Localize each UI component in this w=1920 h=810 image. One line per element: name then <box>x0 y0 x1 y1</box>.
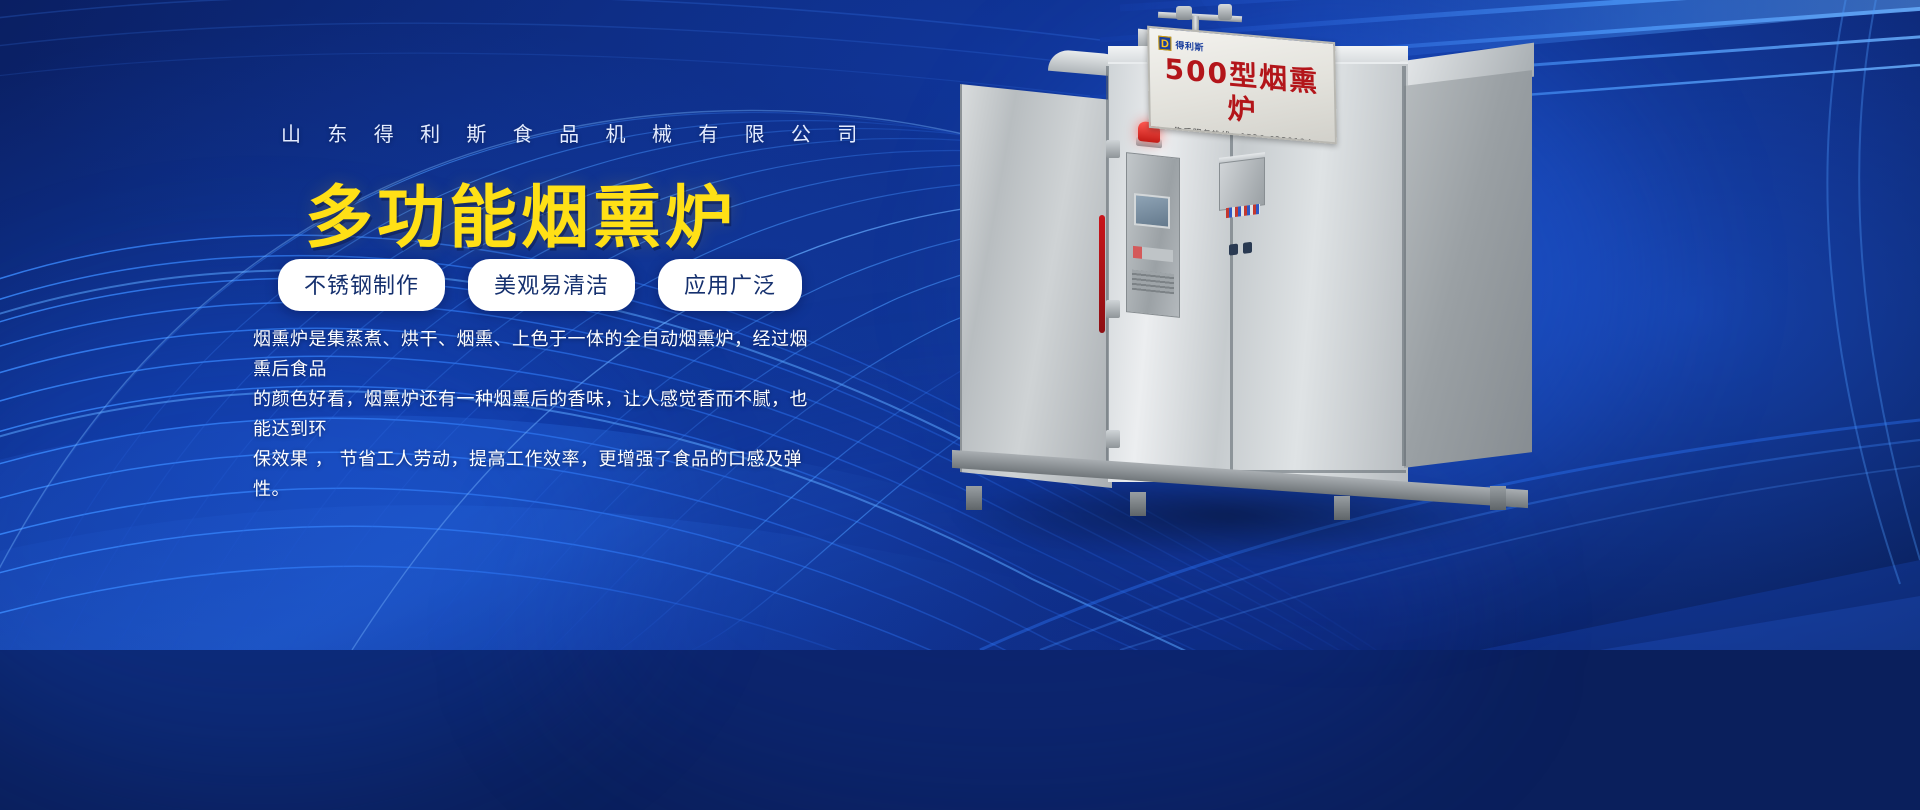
door-seam-left <box>1106 66 1109 478</box>
valve-secondary-icon <box>1218 4 1232 20</box>
logo-d-mark: D <box>1158 36 1171 51</box>
valve-knob-2[interactable] <box>1243 242 1252 254</box>
logo-brand-name: 得利斯 <box>1175 38 1204 54</box>
machine-leg-3 <box>1334 496 1350 520</box>
pill-wide-application[interactable]: 应用广泛 <box>658 259 802 311</box>
door-seam-right <box>1402 66 1406 466</box>
control-vent-grill <box>1132 270 1174 294</box>
promo-banner: 山 东 得 利 斯 食 品 机 械 有 限 公 司 多功能烟熏炉 不锈钢制作 美… <box>0 0 1920 650</box>
cabinet-left-panel <box>960 84 1112 488</box>
valve-knob-1[interactable] <box>1229 243 1238 255</box>
description-line-1: 烟熏炉是集蒸煮、烘干、烟熏、上色于一体的全自动烟熏炉，经过烟熏后食品 <box>253 325 813 385</box>
door-hinge-top <box>1106 140 1120 158</box>
control-display-screen <box>1134 193 1170 229</box>
pill-easy-clean[interactable]: 美观易清洁 <box>468 259 635 311</box>
description-line-3: 保效果 ， 节省工人劳动，提高工作效率，更增强了食品的口感及弹性。 <box>253 445 813 505</box>
door-hinge-bottom <box>1106 430 1120 448</box>
machine-leg-2 <box>1130 492 1146 516</box>
banner-text-block: 山 东 得 利 斯 食 品 机 械 有 限 公 司 多功能烟熏炉 不锈钢制作 美… <box>0 0 880 650</box>
wall-junction-box <box>1219 157 1265 211</box>
product-image-smokehouse-oven: D 得利斯 500型烟熏炉 售后服务热线：0536-6339124 <box>930 0 1630 650</box>
valve-icon <box>1176 6 1192 20</box>
company-name: 山 东 得 利 斯 食 品 机 械 有 限 公 司 <box>281 118 867 147</box>
machine-body: D 得利斯 500型烟熏炉 售后服务热线：0536-6339124 <box>930 0 1630 650</box>
pill-stainless-steel[interactable]: 不锈钢制作 <box>278 259 445 311</box>
feature-pill-group: 不锈钢制作 美观易清洁 应用广泛 <box>278 259 802 311</box>
product-info-plate: D 得利斯 500型烟熏炉 售后服务热线：0536-6339124 <box>1147 26 1337 145</box>
page-title: 多功能烟熏炉 <box>305 162 737 261</box>
door-hinge-middle <box>1106 300 1120 318</box>
door-handle[interactable] <box>1099 215 1105 333</box>
product-description: 烟熏炉是集蒸煮、烘干、烟熏、上色于一体的全自动烟熏炉，经过烟熏后食品 的颜色好看… <box>253 325 813 505</box>
machine-leg-4 <box>1490 486 1506 510</box>
plate-model-title: 500型烟熏炉 <box>1159 52 1326 135</box>
description-line-2: 的颜色好看，烟熏炉还有一种烟熏后的香味，让人感觉香而不腻，也能达到环 <box>253 385 813 445</box>
cabinet-right-wall <box>1404 70 1532 468</box>
machine-leg-1 <box>966 486 982 510</box>
